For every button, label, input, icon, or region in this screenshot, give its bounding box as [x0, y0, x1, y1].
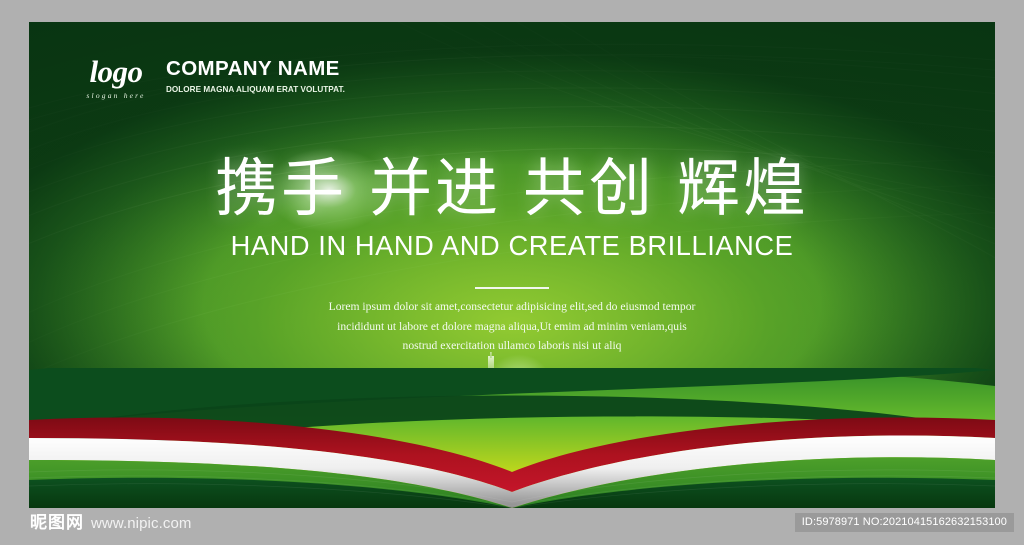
headline-cn-2: 并进	[369, 152, 501, 225]
watermark-url: www.nipic.com	[91, 514, 192, 533]
headline-cn-4: 辉煌	[677, 152, 809, 225]
logo-slogan: slogan here	[77, 91, 155, 100]
logo-mark: logo slogan here	[77, 55, 155, 100]
headline-cn-3: 共创	[523, 152, 655, 225]
footer-bar: 昵图网 www.nipic.com ID:5978971 NO:20210415…	[0, 515, 1024, 545]
logo-block[interactable]: logo slogan here COMPANY NAME DOLORE MAG…	[77, 55, 350, 100]
headline-chinese: 携手并进共创辉煌	[29, 154, 995, 224]
body-copy: Lorem ipsum dolor sit amet,consectetur a…	[29, 297, 995, 356]
watermark-logo-text: 昵图网	[30, 514, 84, 533]
headline-cn-1: 携手	[215, 152, 347, 225]
logo-wordmark: logo	[77, 56, 155, 87]
body-line-1: Lorem ipsum dolor sit amet,consectetur a…	[29, 297, 995, 317]
headline-english: HAND IN HAND AND CREATE BRILLIANCE	[34, 230, 990, 262]
ribbon-graphics	[29, 368, 995, 508]
headline-divider	[475, 287, 549, 289]
banner-artboard: logo slogan here COMPANY NAME DOLORE MAG…	[29, 22, 995, 508]
image-id-badge: ID:5978971 NO:20210415162632153100	[795, 513, 1014, 532]
screenshot-stage: logo slogan here COMPANY NAME DOLORE MAG…	[0, 0, 1024, 545]
watermark: 昵图网 www.nipic.com	[30, 514, 192, 533]
headline-block: 携手并进共创辉煌 HAND IN HAND AND CREATE BRILLIA…	[29, 154, 995, 262]
company-name: COMPANY NAME	[166, 58, 350, 80]
body-line-2: incididunt ut labore et dolore magna ali…	[29, 317, 995, 337]
company-text-block: COMPANY NAME DOLORE MAGNA ALIQUAM ERAT V…	[166, 55, 350, 94]
company-tagline: DOLORE MAGNA ALIQUAM ERAT VOLUTPAT.	[166, 84, 345, 94]
